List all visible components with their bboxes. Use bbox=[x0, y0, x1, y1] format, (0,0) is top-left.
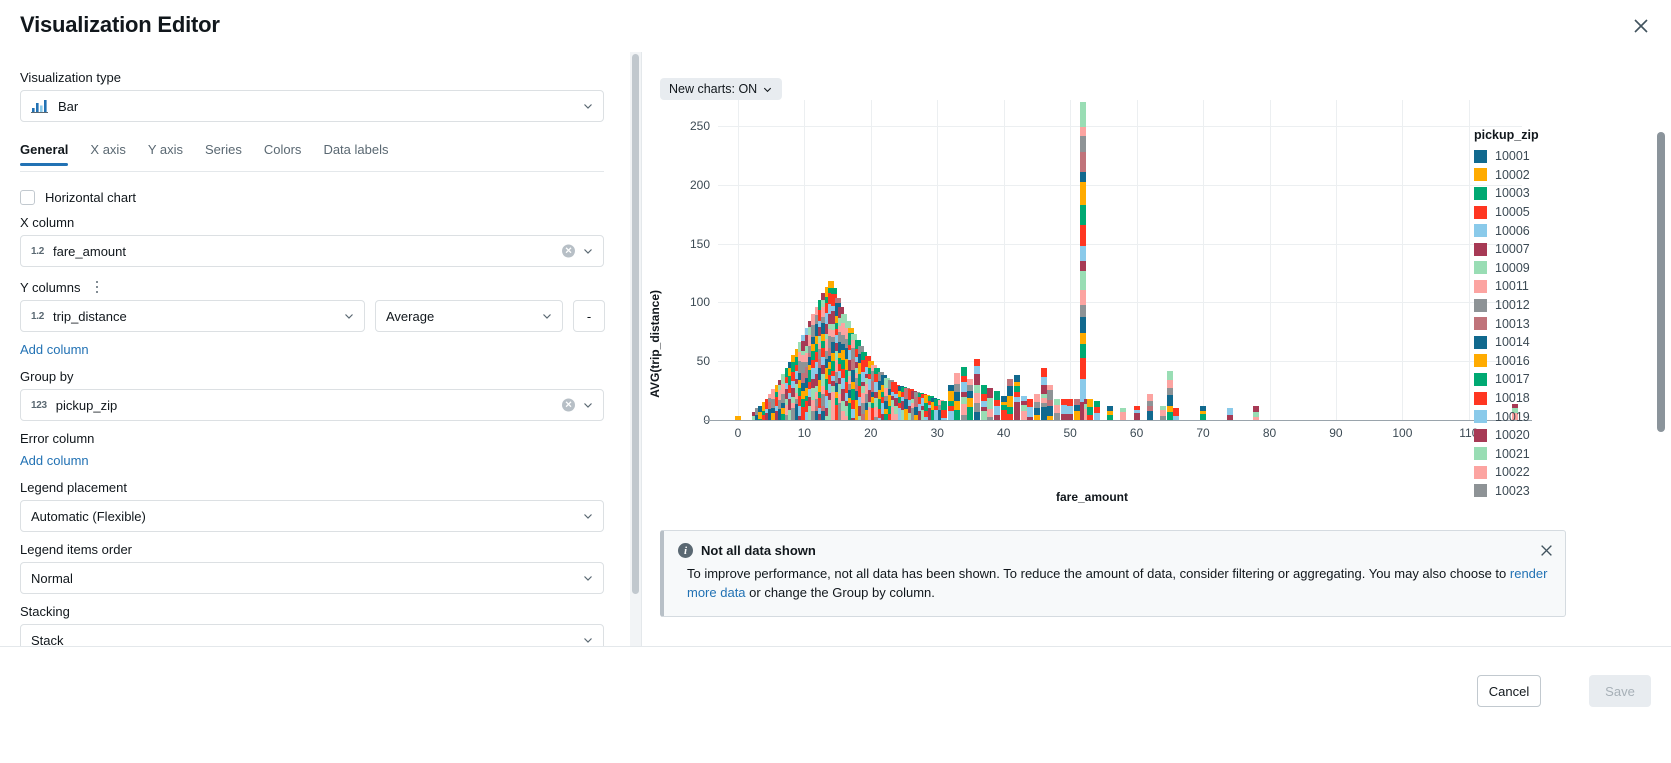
bar-segment bbox=[1080, 205, 1086, 225]
settings-panel-scrollbar[interactable] bbox=[630, 52, 641, 646]
not-all-data-shown-alert: i Not all data shown To improve performa… bbox=[660, 530, 1566, 617]
more-options-icon[interactable] bbox=[90, 279, 104, 295]
legend-item-label: 10002 bbox=[1495, 168, 1530, 182]
y-columns-header: Y columns bbox=[20, 279, 608, 295]
tab-data-labels[interactable]: Data labels bbox=[323, 142, 388, 165]
bar[interactable] bbox=[1014, 375, 1020, 420]
bar-segment bbox=[948, 411, 954, 420]
x-axis-line bbox=[704, 420, 1532, 421]
alert-header: i Not all data shown bbox=[678, 543, 1551, 558]
bar-segment bbox=[987, 409, 993, 418]
alert-title: Not all data shown bbox=[701, 543, 816, 558]
chevron-down-icon bbox=[582, 245, 594, 257]
bar-segment bbox=[1120, 412, 1126, 420]
bar[interactable] bbox=[974, 359, 980, 420]
bar[interactable] bbox=[1087, 399, 1093, 420]
bar-segment bbox=[1080, 344, 1086, 357]
legend-swatch bbox=[1474, 447, 1487, 460]
horizontal-chart-checkbox[interactable] bbox=[20, 190, 35, 205]
x-tick-label: 50 bbox=[1063, 426, 1076, 440]
visualization-type-value: Bar bbox=[58, 99, 78, 114]
gridline-vertical bbox=[1469, 100, 1470, 420]
bar-segment bbox=[1027, 407, 1033, 417]
legend-swatch bbox=[1474, 168, 1487, 181]
gridline-vertical bbox=[1336, 100, 1337, 420]
legend-item[interactable]: 10011 bbox=[1474, 277, 1574, 296]
bar-segment bbox=[1080, 225, 1086, 245]
bar-segment bbox=[967, 391, 973, 398]
visualization-type-label: Visualization type bbox=[20, 70, 608, 85]
legend-item[interactable]: 10016 bbox=[1474, 352, 1574, 371]
bar[interactable] bbox=[948, 385, 954, 420]
settings-panel: Visualization type Bar bbox=[0, 52, 628, 646]
legend-item-label: 10007 bbox=[1495, 242, 1530, 256]
legend-item[interactable]: 10012 bbox=[1474, 296, 1574, 315]
new-charts-toggle[interactable]: New charts: ON bbox=[660, 78, 782, 100]
bar-segment bbox=[1080, 271, 1086, 289]
legend-item[interactable]: 10020 bbox=[1474, 426, 1574, 445]
bar-segment bbox=[987, 388, 993, 398]
scrollbar-thumb[interactable] bbox=[1657, 132, 1665, 432]
bar[interactable] bbox=[967, 379, 973, 420]
bar-segment bbox=[961, 382, 967, 392]
bar[interactable] bbox=[1107, 406, 1113, 420]
bar-chart-icon bbox=[31, 99, 49, 113]
bar-segment bbox=[1167, 412, 1173, 420]
legend-item-label: 10012 bbox=[1495, 298, 1530, 312]
bar-segment bbox=[961, 404, 967, 415]
bar[interactable] bbox=[1054, 399, 1060, 420]
bar-segment bbox=[1014, 402, 1020, 420]
x-tick-label: 10 bbox=[798, 426, 811, 440]
bar[interactable] bbox=[981, 385, 987, 420]
bar-segment bbox=[1047, 406, 1053, 416]
remove-y-column-button[interactable]: - bbox=[573, 300, 605, 332]
bar-segment bbox=[941, 401, 947, 410]
gridline-vertical bbox=[1137, 100, 1138, 420]
bar-segment bbox=[1080, 127, 1086, 137]
bar[interactable] bbox=[1007, 379, 1013, 420]
alert-body-after: or change the Group by column. bbox=[746, 585, 935, 600]
legend-item[interactable]: 10006 bbox=[1474, 221, 1574, 240]
y-tick-label: 250 bbox=[670, 119, 710, 133]
legend-placement-select[interactable]: Automatic (Flexible) bbox=[20, 500, 604, 532]
bar-segment bbox=[954, 373, 960, 384]
bar-segment bbox=[1080, 261, 1086, 271]
alert-body-before: To improve performance, not all data has… bbox=[687, 566, 1510, 581]
bar[interactable] bbox=[1200, 406, 1206, 420]
chevron-down-icon bbox=[762, 84, 773, 95]
bar-segment bbox=[954, 401, 960, 410]
gridline-vertical bbox=[1070, 100, 1071, 420]
gridline-horizontal bbox=[718, 244, 1522, 245]
x-column-select[interactable]: 1.2 fare_amount ✕ bbox=[20, 235, 604, 267]
y-axis-label: AVG(trip_distance) bbox=[648, 290, 662, 398]
info-icon: i bbox=[678, 543, 693, 558]
x-tick-label: 0 bbox=[735, 426, 742, 440]
bar-segment bbox=[1080, 246, 1086, 261]
bar-segment bbox=[987, 398, 993, 409]
bar-segment bbox=[967, 379, 973, 386]
legend-swatch bbox=[1474, 243, 1487, 256]
bar[interactable] bbox=[1067, 399, 1073, 420]
gridline-horizontal bbox=[718, 126, 1522, 127]
bar-segment bbox=[974, 374, 980, 384]
bar-segment bbox=[994, 391, 1000, 400]
bar[interactable] bbox=[941, 401, 947, 420]
bar[interactable] bbox=[1160, 406, 1166, 420]
bar-segment bbox=[981, 411, 987, 420]
legend-item-label: 10016 bbox=[1495, 354, 1530, 368]
bar-segment bbox=[1080, 152, 1086, 173]
save-button: Save bbox=[1589, 675, 1651, 707]
chevron-down-icon bbox=[541, 310, 553, 322]
bar[interactable] bbox=[1147, 394, 1153, 420]
bar-chart: AVG(trip_distance) 050100150200250 01020… bbox=[642, 100, 1542, 460]
bar-segment bbox=[954, 392, 960, 402]
y-columns-label: Y columns bbox=[20, 280, 80, 295]
bar[interactable] bbox=[1134, 406, 1140, 420]
bar-segment bbox=[1007, 379, 1013, 386]
tab-colors[interactable]: Colors bbox=[264, 142, 302, 165]
legend-placement-value: Automatic (Flexible) bbox=[31, 509, 146, 524]
bar-segment bbox=[974, 403, 980, 412]
x-tick-label: 20 bbox=[864, 426, 877, 440]
gridline-vertical bbox=[1203, 100, 1204, 420]
bar-segment bbox=[1027, 399, 1033, 407]
bar-segment bbox=[948, 391, 954, 400]
y-columns-row: 1.2 trip_distance Average - bbox=[20, 300, 608, 332]
bar[interactable] bbox=[1080, 102, 1086, 420]
gridline-vertical bbox=[1402, 100, 1403, 420]
x-tick-label: 70 bbox=[1196, 426, 1209, 440]
bar-segment bbox=[954, 410, 960, 420]
legend-items-order-label: Legend items order bbox=[20, 542, 608, 557]
legend-item[interactable]: 10023 bbox=[1474, 482, 1574, 501]
close-icon[interactable] bbox=[1537, 541, 1555, 559]
bar-segment bbox=[961, 376, 967, 383]
close-icon[interactable] bbox=[1629, 14, 1653, 38]
bar-segment bbox=[1080, 290, 1086, 306]
bar-segment bbox=[1080, 317, 1086, 333]
bar-segment bbox=[1080, 358, 1086, 380]
bar-segment bbox=[1021, 411, 1027, 420]
visualization-type-select[interactable]: Bar bbox=[20, 90, 604, 122]
legend-items-order-select[interactable]: Normal bbox=[20, 562, 604, 594]
bar-segment bbox=[1080, 172, 1086, 182]
gridline-vertical bbox=[1004, 100, 1005, 420]
bar[interactable] bbox=[1167, 371, 1173, 420]
bar-segment bbox=[1007, 396, 1013, 408]
bar[interactable] bbox=[1034, 394, 1040, 420]
legend-item[interactable]: 10003 bbox=[1474, 184, 1574, 203]
y-aggregation-value: Average bbox=[386, 309, 434, 324]
horizontal-chart-row: Horizontal chart bbox=[20, 190, 608, 205]
dialog-footer: Cancel Save bbox=[0, 646, 1671, 763]
bar-segment bbox=[974, 359, 980, 366]
y-tick-label: 50 bbox=[670, 354, 710, 368]
bar-segment bbox=[1080, 102, 1086, 126]
chevron-down-icon bbox=[582, 399, 594, 411]
bar-segment bbox=[1087, 399, 1093, 407]
legend-item-label: 10013 bbox=[1495, 317, 1530, 331]
bar-segment bbox=[1007, 407, 1013, 414]
integer-type-icon: 123 bbox=[31, 400, 47, 411]
bar-segment bbox=[1007, 386, 1013, 396]
gridline-vertical bbox=[738, 100, 739, 420]
legend-item[interactable]: 10005 bbox=[1474, 203, 1574, 222]
bar-segment bbox=[981, 385, 987, 395]
bar-segment bbox=[1167, 388, 1173, 395]
stacking-label: Stacking bbox=[20, 604, 608, 619]
tab-series[interactable]: Series bbox=[205, 142, 242, 165]
x-tick-label: 100 bbox=[1392, 426, 1412, 440]
bar[interactable] bbox=[1047, 385, 1053, 420]
bar-segment bbox=[1041, 377, 1047, 386]
x-tick-label: 80 bbox=[1263, 426, 1276, 440]
bar[interactable] bbox=[1027, 399, 1033, 420]
bar[interactable] bbox=[994, 391, 1000, 420]
legend-item[interactable]: 10019 bbox=[1474, 407, 1574, 426]
legend-title: pickup_zip bbox=[1474, 128, 1574, 142]
legend-item-label: 10020 bbox=[1495, 428, 1530, 442]
bar-segment bbox=[1080, 182, 1086, 205]
y-column-value: trip_distance bbox=[53, 309, 127, 324]
legend-swatch bbox=[1474, 187, 1487, 200]
stacking-value: Stack bbox=[31, 633, 64, 647]
bar-segment bbox=[1227, 408, 1233, 415]
bar-segment bbox=[1080, 305, 1086, 316]
legend-swatch bbox=[1474, 206, 1487, 219]
bar-segment bbox=[1167, 395, 1173, 406]
numeric-type-icon: 1.2 bbox=[31, 246, 44, 257]
x-tick-label: 40 bbox=[997, 426, 1010, 440]
legend-item-label: 10003 bbox=[1495, 186, 1530, 200]
clear-icon[interactable]: ✕ bbox=[562, 399, 575, 412]
chevron-down-icon bbox=[343, 310, 355, 322]
bar-segment bbox=[994, 406, 1000, 416]
legend-item[interactable]: 10018 bbox=[1474, 389, 1574, 408]
tab-y-axis[interactable]: Y axis bbox=[148, 142, 183, 165]
bar-segment bbox=[1173, 408, 1179, 415]
dialog-header: Visualization Editor bbox=[0, 0, 1671, 52]
legend-swatch bbox=[1474, 429, 1487, 442]
add-y-column-link[interactable]: Add column bbox=[20, 342, 89, 357]
x-axis-label: fare_amount bbox=[642, 490, 1542, 504]
legend-item-label: 10023 bbox=[1495, 484, 1530, 498]
bar-segment bbox=[845, 321, 851, 328]
gridline-vertical bbox=[937, 100, 938, 420]
legend-item-label: 10014 bbox=[1495, 335, 1530, 349]
legend-item[interactable]: 10007 bbox=[1474, 240, 1574, 259]
chart-preview-panel: New charts: ON AVG(trip_distance) 050100… bbox=[642, 52, 1671, 646]
bar-segment bbox=[1080, 136, 1086, 151]
bar-segment bbox=[941, 410, 947, 418]
group-by-select[interactable]: 123 pickup_zip ✕ bbox=[20, 389, 604, 421]
bar-segment bbox=[1080, 333, 1086, 344]
bar-segment bbox=[1047, 390, 1053, 400]
x-column-value: fare_amount bbox=[53, 244, 126, 259]
new-charts-label: New charts: ON bbox=[669, 82, 757, 96]
legend-item-label: 10018 bbox=[1495, 391, 1530, 405]
bar-segment bbox=[1087, 407, 1093, 415]
legend-item-label: 10001 bbox=[1495, 149, 1530, 163]
x-tick-label: 90 bbox=[1329, 426, 1342, 440]
legend-item[interactable]: 10002 bbox=[1474, 166, 1574, 185]
chart-legend: pickup_zip 10001100021000310005100061000… bbox=[1474, 128, 1574, 518]
alert-body: To improve performance, not all data has… bbox=[687, 565, 1551, 603]
bar-segment bbox=[948, 385, 954, 392]
bar[interactable] bbox=[1021, 396, 1027, 420]
error-column-label: Error column bbox=[20, 431, 608, 446]
legend-swatch bbox=[1474, 373, 1487, 386]
group-by-value: pickup_zip bbox=[56, 398, 117, 413]
bar-segment bbox=[1041, 385, 1047, 394]
x-tick-label: 60 bbox=[1130, 426, 1143, 440]
y-tick-label: 200 bbox=[670, 178, 710, 192]
legend-item[interactable]: 10013 bbox=[1474, 314, 1574, 333]
y-column-select[interactable]: 1.2 trip_distance bbox=[20, 300, 365, 332]
bar[interactable] bbox=[1041, 368, 1047, 420]
bar-segment bbox=[1054, 413, 1060, 420]
bar[interactable] bbox=[1253, 406, 1259, 420]
legend-swatch bbox=[1474, 392, 1487, 405]
tab-general[interactable]: General bbox=[20, 142, 68, 165]
page-title: Visualization Editor bbox=[20, 12, 220, 38]
numeric-type-icon: 1.2 bbox=[31, 311, 44, 322]
bar[interactable] bbox=[1001, 396, 1007, 420]
visualization-editor-dialog: Visualization Editor Visualization type … bbox=[0, 0, 1671, 763]
legend-item[interactable]: 10021 bbox=[1474, 445, 1574, 464]
legend-swatch bbox=[1474, 336, 1487, 349]
bar-segment bbox=[1074, 411, 1080, 420]
gridline-horizontal bbox=[718, 185, 1522, 186]
legend-item[interactable]: 10001 bbox=[1474, 147, 1574, 166]
bar-segment bbox=[974, 393, 980, 403]
bar-segment bbox=[1061, 405, 1067, 415]
legend-scrollbar[interactable] bbox=[1656, 132, 1667, 462]
bar-segment bbox=[1134, 413, 1140, 420]
bar[interactable] bbox=[954, 373, 960, 420]
bar-segment bbox=[1094, 413, 1100, 420]
chevron-down-icon bbox=[582, 100, 594, 112]
bar-segment bbox=[961, 367, 967, 376]
legend-item-label: 10021 bbox=[1495, 447, 1530, 461]
clear-icon[interactable]: ✕ bbox=[562, 245, 575, 258]
scrollbar-thumb[interactable] bbox=[632, 54, 639, 594]
bar-segment bbox=[967, 407, 973, 420]
legend-item-label: 10019 bbox=[1495, 410, 1530, 424]
legend-swatch bbox=[1474, 150, 1487, 163]
legend-item[interactable]: 10014 bbox=[1474, 333, 1574, 352]
stacking-select[interactable]: Stack bbox=[20, 624, 604, 646]
tab-x-axis[interactable]: X axis bbox=[90, 142, 125, 165]
bar-segment bbox=[967, 398, 973, 407]
bar[interactable] bbox=[1227, 408, 1233, 420]
bar-segment bbox=[1067, 399, 1073, 406]
legend-swatch bbox=[1474, 224, 1487, 237]
bar-segment bbox=[1167, 371, 1173, 380]
bar[interactable] bbox=[1061, 399, 1067, 420]
bar-segment bbox=[1001, 410, 1007, 420]
bar-segment bbox=[1034, 394, 1040, 402]
bar-segment bbox=[974, 385, 980, 393]
bar-segment bbox=[961, 397, 967, 404]
legend-swatch bbox=[1474, 410, 1487, 423]
bar-segment bbox=[1147, 411, 1153, 420]
legend-swatch bbox=[1474, 299, 1487, 312]
chevron-down-icon bbox=[582, 510, 594, 522]
bar-segment bbox=[1167, 380, 1173, 388]
chevron-down-icon bbox=[582, 572, 594, 584]
bar[interactable] bbox=[1094, 401, 1100, 420]
plot-region bbox=[718, 100, 1522, 420]
y-axis-ticks: 050100150200250 bbox=[670, 100, 710, 420]
legend-swatch bbox=[1474, 466, 1487, 479]
bar[interactable] bbox=[1120, 408, 1126, 420]
legend-item[interactable]: 10009 bbox=[1474, 259, 1574, 278]
bar-segment bbox=[1014, 375, 1020, 382]
bar[interactable] bbox=[1173, 408, 1179, 420]
bar[interactable] bbox=[961, 367, 967, 420]
x-column-label: X column bbox=[20, 215, 608, 230]
x-tick-label: 30 bbox=[931, 426, 944, 440]
bar-segment bbox=[1054, 405, 1060, 413]
bar-segment bbox=[1034, 408, 1040, 415]
y-aggregation-select[interactable]: Average bbox=[375, 300, 563, 332]
bar[interactable] bbox=[1074, 399, 1080, 420]
cancel-button[interactable]: Cancel bbox=[1477, 675, 1541, 707]
bar-segment bbox=[974, 366, 980, 375]
y-tick-label: 100 bbox=[670, 295, 710, 309]
bar-segment bbox=[1041, 368, 1047, 376]
bar-segment bbox=[1067, 406, 1073, 414]
bar-segment bbox=[974, 412, 980, 419]
y-tick-label: 150 bbox=[670, 237, 710, 251]
legend-item-label: 10009 bbox=[1495, 261, 1530, 275]
gridline-vertical bbox=[1270, 100, 1271, 420]
legend-swatch bbox=[1474, 354, 1487, 367]
bar-segment bbox=[1041, 407, 1047, 420]
bar-segment bbox=[954, 384, 960, 392]
legend-item-label: 10022 bbox=[1495, 465, 1530, 479]
legend-swatch bbox=[1474, 280, 1487, 293]
legend-item-label: 10011 bbox=[1495, 279, 1529, 293]
legend-item-label: 10017 bbox=[1495, 372, 1530, 386]
legend-item-label: 10006 bbox=[1495, 224, 1530, 238]
group-by-label: Group by bbox=[20, 369, 608, 384]
horizontal-chart-label: Horizontal chart bbox=[45, 190, 136, 205]
legend-swatch bbox=[1474, 317, 1487, 330]
bar[interactable] bbox=[987, 388, 993, 420]
legend-swatch bbox=[1474, 484, 1487, 497]
settings-tabs: General X axis Y axis Series Colors Data… bbox=[20, 142, 604, 172]
legend-item-label: 10005 bbox=[1495, 205, 1530, 219]
add-error-column-link[interactable]: Add column bbox=[20, 453, 89, 468]
legend-placement-label: Legend placement bbox=[20, 480, 608, 495]
legend-item[interactable]: 10022 bbox=[1474, 463, 1574, 482]
legend-swatch bbox=[1474, 261, 1487, 274]
chevron-down-icon bbox=[582, 634, 594, 646]
legend-items-order-value: Normal bbox=[31, 571, 73, 586]
legend-item[interactable]: 10017 bbox=[1474, 370, 1574, 389]
